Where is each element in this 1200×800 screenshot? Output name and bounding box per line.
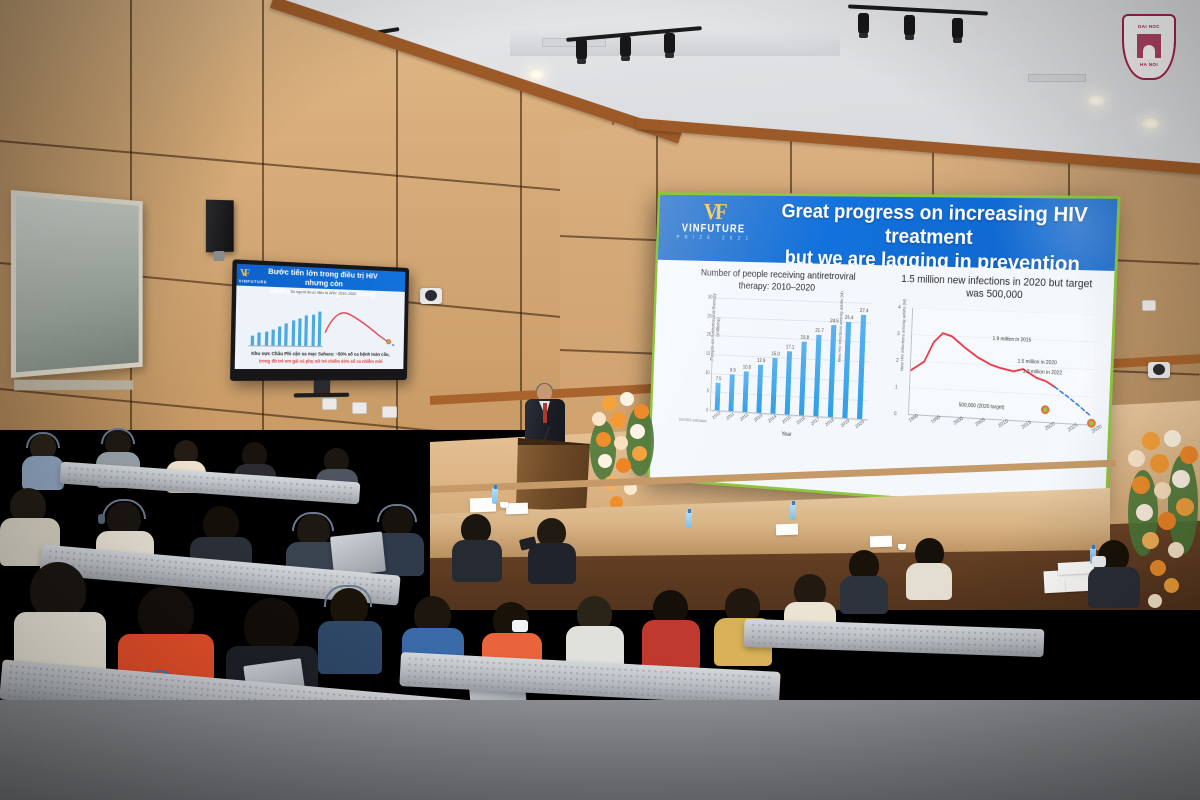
- vinfuture-logo-subtitle: P R I Z E · 2 0 2 1: [670, 235, 758, 242]
- recessed-downlight-icon: [1088, 95, 1105, 106]
- ceiling-vent: [1028, 74, 1086, 82]
- translation-headset: [324, 585, 372, 607]
- line-chart-y-tick: 4: [898, 305, 901, 311]
- bar-chart-bar-group: 27.4: [853, 302, 871, 419]
- monitor-bar: [271, 329, 275, 346]
- bar-chart-bar: [757, 365, 764, 413]
- bar-chart-bar: [799, 341, 807, 415]
- recessed-downlight-icon: [528, 69, 545, 80]
- audience-member: [318, 588, 382, 674]
- bar-chart-bar: [857, 315, 866, 419]
- bar-chart-y-tick: 25: [707, 314, 712, 320]
- bar-chart-plot-area: 7.59.910.912.915.017.119.821.724.525.427…: [710, 298, 872, 421]
- bar-chart-bar: [715, 383, 721, 411]
- bar-chart-bar: [814, 335, 822, 416]
- bar-chart-value-label: 7.5: [716, 376, 722, 382]
- bar-chart-value-label: 25.4: [845, 316, 854, 322]
- secondary-translation-monitor: VF VINFUTURE Bước tiến lớn trong điều tr…: [230, 259, 409, 381]
- bar-chart-value-label: 17.1: [786, 344, 795, 350]
- translation-headset: [292, 512, 334, 531]
- monitor-bar: [311, 314, 315, 346]
- bar-chart-bar: [828, 325, 837, 417]
- track-spotlight-icon: [904, 15, 915, 37]
- bar-chart-bar: [843, 322, 852, 418]
- audience-member: [452, 514, 502, 582]
- bar-chart-value-label: 19.8: [801, 335, 810, 341]
- auditorium-bench: [744, 619, 1045, 657]
- audience-member: [906, 538, 952, 600]
- audience-member: [528, 518, 576, 584]
- monitor-bar: [258, 333, 262, 346]
- track-spotlight-icon: [664, 33, 675, 55]
- line-chart-gridline: [913, 308, 1095, 314]
- bar-chart-y-tick: 20: [706, 332, 711, 338]
- wall-mounted-camera: [420, 288, 442, 304]
- translation-headset: [102, 499, 146, 519]
- monitor-slide-body: Số người được điều trị ARV: 2010–2020: [235, 285, 405, 353]
- translation-headset: [26, 432, 60, 448]
- bar-chart-value-label: 9.9: [730, 368, 736, 374]
- wall-power-outlet[interactable]: [322, 398, 337, 410]
- wall-power-outlet[interactable]: [1142, 300, 1156, 311]
- audience-member: [1088, 540, 1140, 608]
- monitor-bar: [298, 318, 302, 345]
- bar-chart-y-tick: 30: [708, 295, 713, 301]
- monitor-footer-line1: Khu vực Châu Phi cận sa mạc Sahara: ~50%…: [241, 351, 399, 357]
- bar-chart-bars: 7.59.910.912.915.017.119.821.724.525.427…: [711, 298, 872, 420]
- monitor-base: [294, 393, 350, 398]
- bar-chart-value-label: 21.7: [815, 328, 824, 334]
- audience-torso: [22, 456, 64, 490]
- translation-headset: [101, 428, 135, 444]
- bar-chart-value-label: 27.4: [860, 309, 869, 315]
- line-chart-title: 1.5 million new infections in 2020 but t…: [895, 273, 1099, 304]
- bar-chart-value-label: 15.0: [771, 351, 779, 357]
- monitor-footer-line2: trong đó trẻ em gái và phụ nữ trẻ chiếm …: [240, 358, 398, 364]
- slide-title-line1: Great progress on increasing HIV treatme…: [781, 200, 1088, 249]
- crest-arch: [1143, 45, 1155, 59]
- wall-mounted-camera: [1148, 362, 1170, 378]
- wall-mounted-loudspeaker: [206, 200, 234, 253]
- crest-top-text: DAI HOC: [1122, 24, 1176, 29]
- line-chart-y-tick: 2: [896, 358, 899, 364]
- track-spotlight-icon: [952, 18, 963, 40]
- floor: [0, 700, 1200, 800]
- bar-chart-y-tick: 10: [705, 370, 710, 376]
- monitor-bar: [278, 326, 282, 345]
- line-chart-y-axis-label: New HIV infections among adults (M): [899, 290, 907, 380]
- bar-chart-value-label: 10.9: [743, 365, 751, 371]
- whiteboard-tray: [14, 380, 133, 391]
- bar-chart-y-tick: 15: [706, 351, 711, 357]
- monitor-bar: [318, 312, 322, 346]
- line-chart-gridline: [910, 388, 1092, 398]
- line-chart-y-tick: 1: [895, 385, 898, 391]
- lecture-hall-photo: DAI HOC HA NOI VF VINFUTURE P R I Z E · …: [0, 0, 1200, 800]
- audience-torso: [318, 621, 382, 674]
- bar-chart-y-tick: 5: [707, 389, 709, 395]
- slide-header: VF VINFUTURE P R I Z E · 2 0 2 1 Great p…: [658, 195, 1118, 271]
- monitor-bar: [251, 336, 254, 346]
- audience-torso: [1088, 567, 1140, 608]
- recessed-downlight-icon: [1142, 118, 1159, 129]
- audience-torso: [906, 563, 952, 600]
- crest-bottom-text: HA NOI: [1122, 62, 1176, 67]
- bar-chart-value-label: 24.5: [830, 318, 839, 324]
- bar-chart-bar: [743, 372, 749, 412]
- audience-member: [840, 550, 888, 614]
- vinfuture-logo: VF VINFUTURE P R I Z E · 2 0 2 1: [670, 200, 759, 241]
- monitor-bar-chart: [251, 304, 322, 346]
- monitor-line-chart: [323, 305, 397, 347]
- face-mask: [1092, 556, 1106, 567]
- audience-member: [22, 434, 64, 490]
- university-crest-icon: DAI HOC HA NOI: [1122, 14, 1176, 80]
- slide-title: Great progress on increasing HIV treatme…: [761, 199, 1110, 270]
- track-spotlight-icon: [576, 39, 587, 61]
- face-mask: [512, 620, 528, 632]
- line-chart-y-tick: 3: [897, 331, 900, 337]
- audience-torso: [642, 620, 700, 670]
- monitor-bar: [264, 331, 268, 345]
- bar-chart-bar: [785, 351, 792, 415]
- monitor-bar: [285, 324, 289, 346]
- audience-torso: [528, 543, 576, 584]
- translation-headset: [377, 504, 417, 522]
- bar-chart-bar: [729, 375, 735, 412]
- track-spotlight-icon: [620, 36, 631, 58]
- monitor-bar: [305, 315, 309, 346]
- bar-chart-bar: [771, 358, 778, 414]
- bar-chart-value-label: 12.9: [757, 359, 765, 365]
- monitor-bar: [291, 321, 295, 346]
- audience-torso: [840, 576, 888, 614]
- audience-torso: [452, 540, 502, 582]
- headset-earcup: [98, 514, 105, 524]
- wall-whiteboard: [11, 190, 143, 378]
- vinfuture-mark-icon: VF: [670, 200, 758, 224]
- track-spotlight-icon: [858, 13, 869, 35]
- audience-member: [642, 590, 700, 670]
